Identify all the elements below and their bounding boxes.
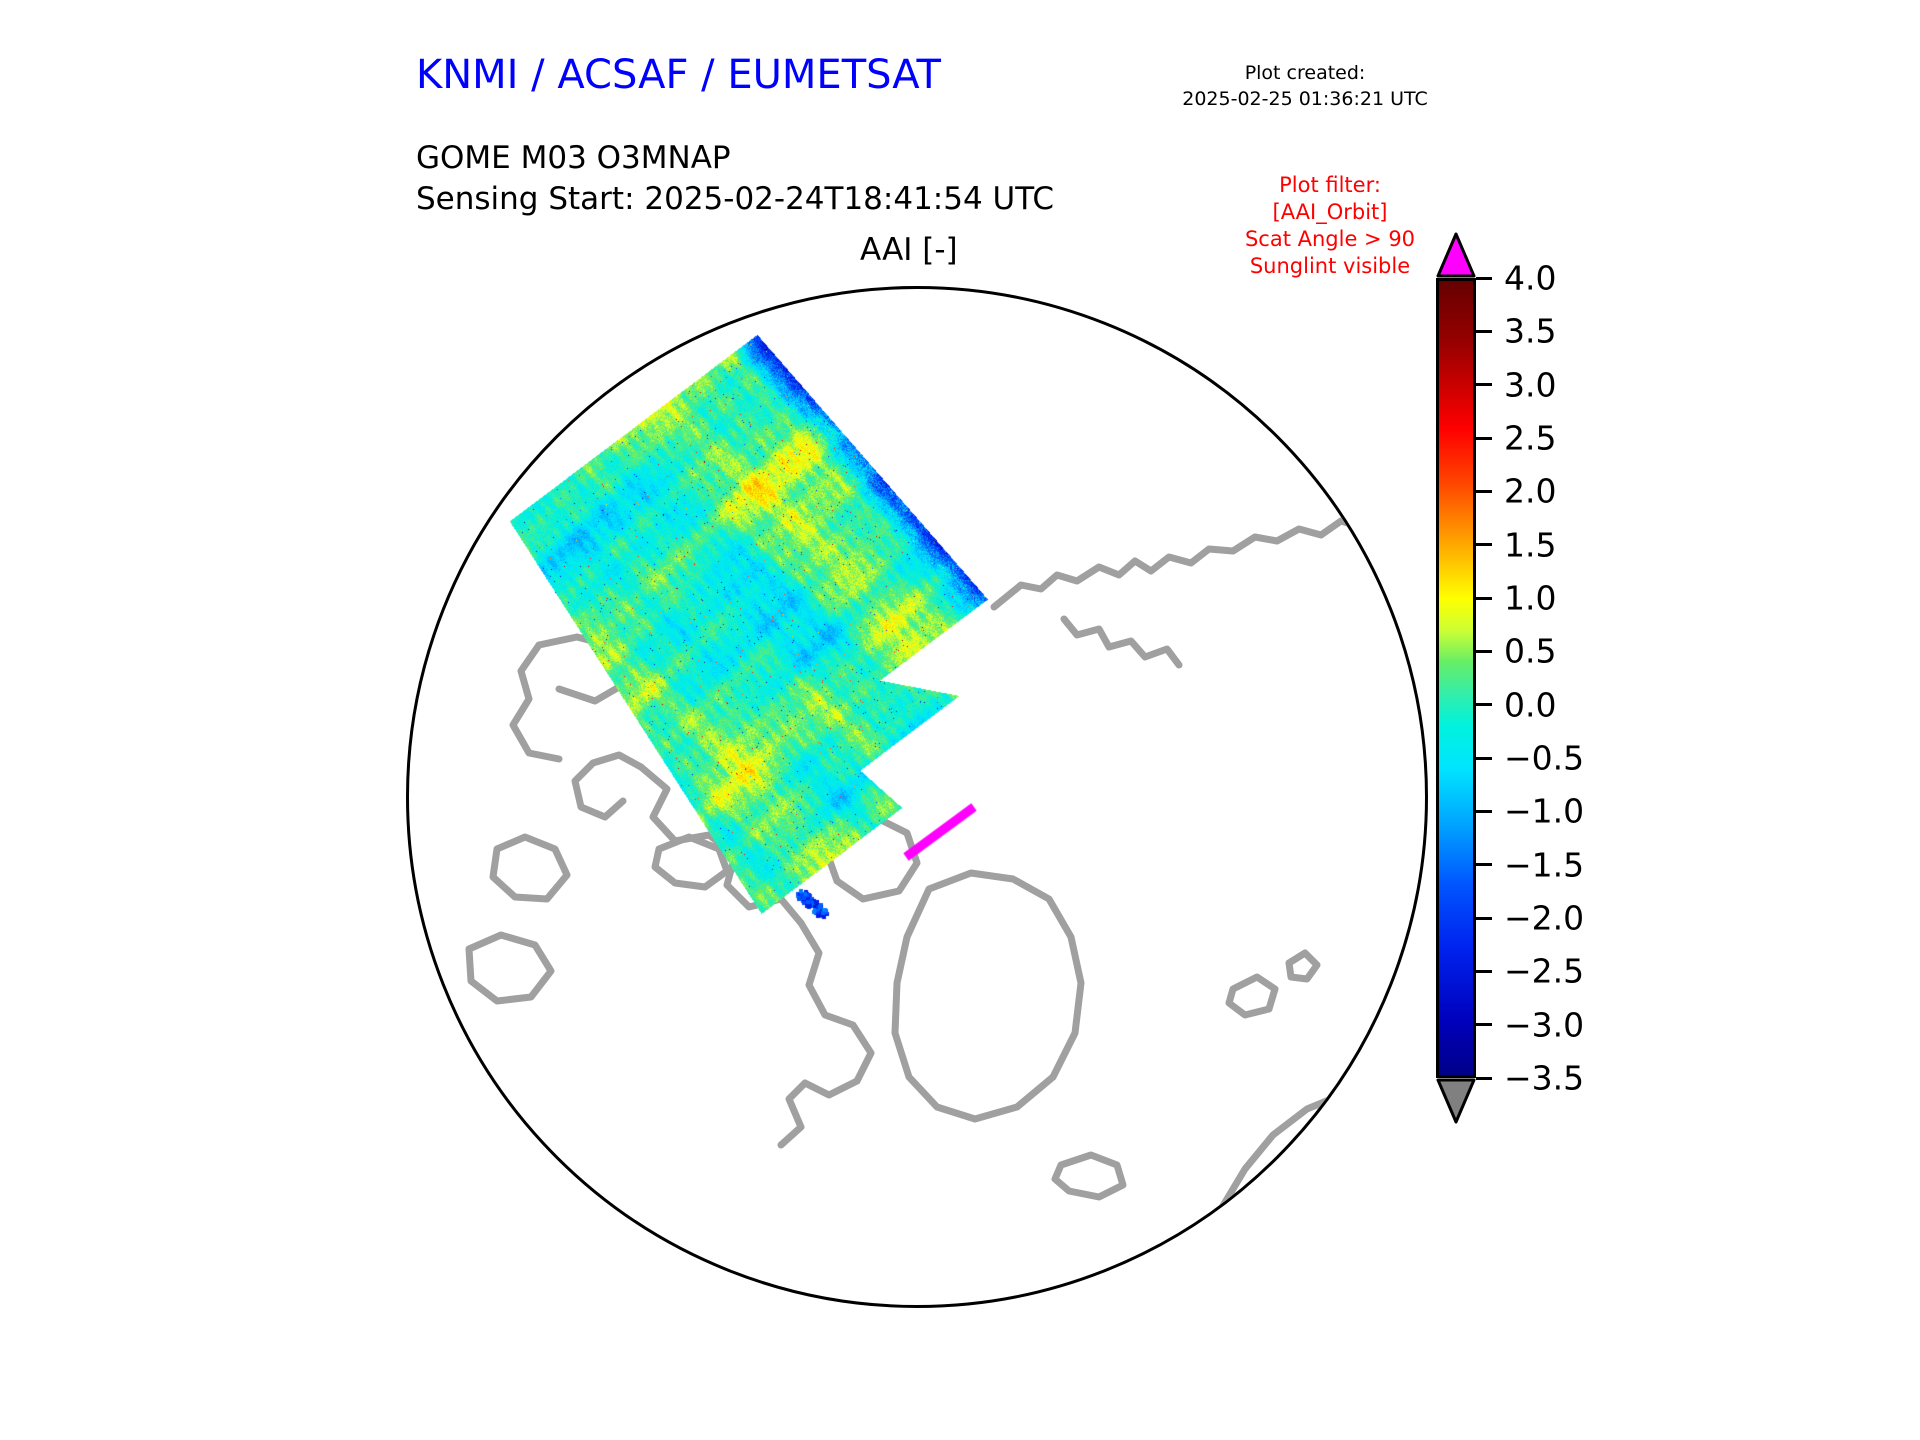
colorbar-tick-label: −1.5 — [1504, 848, 1584, 881]
colorbar-tick-label: 0.5 — [1504, 635, 1556, 668]
map-panel — [406, 286, 1428, 1308]
colorbar-tick-label: 4.0 — [1504, 262, 1556, 295]
plot-created-time: 2025-02-25 01:36:21 UTC — [1160, 86, 1450, 112]
plot-filter-line-3: Sunglint visible — [1200, 253, 1460, 280]
colorbar-under-range-arrow — [1436, 1078, 1476, 1124]
colorbar-tick — [1476, 757, 1492, 760]
colorbar-tick-label: −3.0 — [1504, 1008, 1584, 1041]
plot-created-label: Plot created: — [1160, 60, 1450, 86]
colorbar-tick-label: −3.5 — [1504, 1062, 1584, 1095]
colorbar-tick — [1476, 597, 1492, 600]
plot-filter-line-1: [AAI_Orbit] — [1200, 199, 1460, 226]
colorbar-tick — [1476, 437, 1492, 440]
colorbar-tick-label: 2.0 — [1504, 475, 1556, 508]
sensing-start: Sensing Start: 2025-02-24T18:41:54 UTC — [416, 179, 1054, 220]
colorbar-tick-label: 0.0 — [1504, 688, 1556, 721]
colorbar-tick — [1476, 863, 1492, 866]
product-info: GOME M03 O3MNAP Sensing Start: 2025-02-2… — [416, 138, 1054, 220]
colorbar-tick — [1476, 917, 1492, 920]
colorbar-tick-label: 1.0 — [1504, 582, 1556, 615]
colorbar-gradient — [1439, 281, 1473, 1075]
aai-swath-canvas — [409, 289, 1428, 1308]
colorbar-tick — [1476, 970, 1492, 973]
colorbar-tick-label: 3.0 — [1504, 368, 1556, 401]
plot-created-block: Plot created: 2025-02-25 01:36:21 UTC — [1160, 60, 1450, 112]
colorbar-tick-label: 2.5 — [1504, 422, 1556, 455]
colorbar-tick — [1476, 330, 1492, 333]
colorbar-tick — [1476, 383, 1492, 386]
colorbar-tick — [1476, 1077, 1492, 1080]
colorbar-tick — [1476, 543, 1492, 546]
colorbar-tick — [1476, 1023, 1492, 1026]
colorbar-over-range-arrow — [1436, 232, 1476, 278]
quantity-title: AAI [-] — [860, 232, 958, 268]
plot-filter-title: Plot filter: — [1200, 172, 1460, 199]
colorbar-tick-label: 1.5 — [1504, 528, 1556, 561]
colorbar-tick — [1476, 810, 1492, 813]
colorbar: 4.03.53.02.52.01.51.00.50.0−0.5−1.0−1.5−… — [1432, 232, 1772, 1314]
globe-outline — [406, 286, 1428, 1308]
colorbar-tick — [1476, 277, 1492, 280]
organisation-title: KNMI / ACSAF / EUMETSAT — [416, 52, 941, 98]
colorbar-tick-label: −0.5 — [1504, 742, 1584, 775]
plot-filter-block: Plot filter: [AAI_Orbit] Scat Angle > 90… — [1200, 172, 1460, 280]
plot-filter-line-2: Scat Angle > 90 — [1200, 226, 1460, 253]
colorbar-tick-label: −2.0 — [1504, 902, 1584, 935]
colorbar-tick — [1476, 650, 1492, 653]
colorbar-track — [1436, 278, 1476, 1078]
aai-swath-overlay — [409, 289, 1428, 1308]
product-name: GOME M03 O3MNAP — [416, 138, 1054, 179]
colorbar-tick — [1476, 490, 1492, 493]
colorbar-tick-label: −2.5 — [1504, 955, 1584, 988]
colorbar-tick-label: 3.5 — [1504, 315, 1556, 348]
colorbar-tick — [1476, 703, 1492, 706]
colorbar-tick-label: −1.0 — [1504, 795, 1584, 828]
